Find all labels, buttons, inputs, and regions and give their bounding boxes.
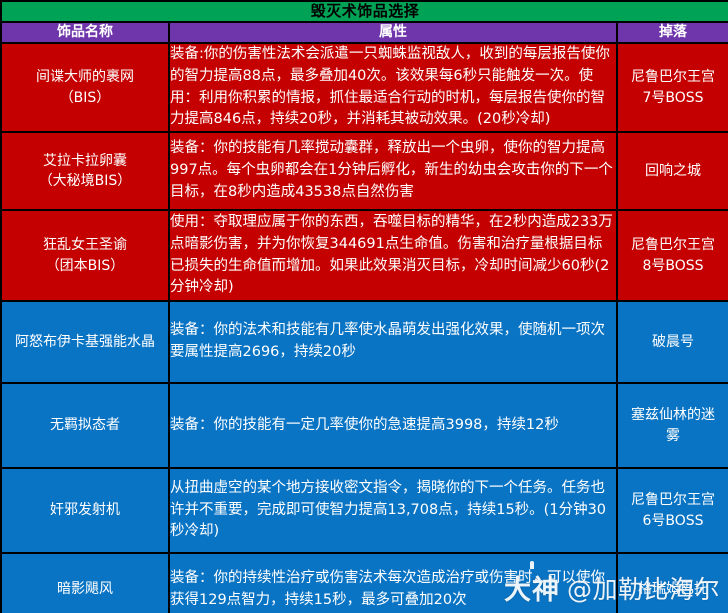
trinket-attribute-cell: 装备：你的技能有几率搅动囊群，释放出一个虫卵，使你的智力提高997点。每个虫卵都… — [169, 132, 617, 210]
trinket-attribute-cell: 装备：你的技能有一定几率使你的急速提高3998，持续12秒 — [169, 383, 617, 468]
drop-source-detail: 雾 — [618, 426, 728, 446]
page-title: 毁灭术饰品选择 — [1, 1, 728, 22]
drop-source: 回响之城 — [645, 163, 701, 179]
table-row: 奸邪发射机从扭曲虚空的某个地方接收密文指令，揭晓你的下一个任务。任务也许并不重要… — [1, 468, 728, 553]
trinket-attribute-cell: 装备：你的法术和技能有几率使水晶萌发出强化效果，使随机一项次要属性提高2696，… — [169, 301, 617, 383]
trinket-attribute-cell: 装备:你的伤害性法术会派遣一只蜘蛛监视敌人，收到的每层报告使你的智力提高88点，… — [169, 43, 617, 132]
drop-source: 塞兹仙林的迷 — [631, 407, 715, 423]
table-row: 阿怒布伊卡基强能水晶装备：你的法术和技能有几率使水晶萌发出强化效果，使随机一项次… — [1, 301, 728, 383]
trinket-name-tag: （大秘境BIS） — [2, 171, 168, 191]
trinket-name: 艾拉卡拉卵囊 — [43, 153, 127, 169]
trinket-drop-cell: 尼鲁巴尔王宫7号BOSS — [617, 43, 728, 132]
column-header-drop: 掉落 — [617, 22, 728, 43]
trinket-name-cell: 无羁拟态者 — [1, 383, 169, 468]
trinket-drop-cell: 尼鲁巴尔王宫6号BOSS — [617, 468, 728, 553]
trinket-name: 阿怒布伊卡基强能水晶 — [15, 334, 155, 350]
table-row: 暗影飓风装备：你的持续性治疗或伤害法术每次造成治疗或伤害时，可以使你获得129点… — [1, 553, 728, 613]
table-row: 艾拉卡拉卵囊（大秘境BIS）装备：你的技能有几率搅动囊群，释放出一个虫卵，使你的… — [1, 132, 728, 210]
trinket-name: 暗影飓风 — [57, 581, 113, 597]
drop-source-detail: 8号BOSS — [618, 256, 728, 276]
trinket-name-cell: 艾拉卡拉卵囊（大秘境BIS） — [1, 132, 169, 210]
trinket-name-cell: 间谍大师的裹网（BIS） — [1, 43, 169, 132]
title-row: 毁灭术饰品选择 — [1, 1, 728, 22]
header-row: 饰品名称 属性 掉落 — [1, 22, 728, 43]
trinket-drop-cell: 格瑞姆巴托 — [617, 553, 728, 613]
table-row: 无羁拟态者装备：你的技能有一定几率使你的急速提高3998，持续12秒塞兹仙林的迷… — [1, 383, 728, 468]
trinket-attribute-cell: 从扭曲虚空的某个地方接收密文指令，揭晓你的下一个任务。任务也许并不重要，完成即可… — [169, 468, 617, 553]
trinket-name: 无羁拟态者 — [50, 417, 120, 433]
trinket-name-tag: （BIS） — [2, 88, 168, 108]
trinket-drop-cell: 破晨号 — [617, 301, 728, 383]
drop-source: 尼鲁巴尔王宫 — [631, 69, 715, 85]
trinket-name: 狂乱女王圣谕 — [43, 237, 127, 253]
drop-source: 尼鲁巴尔王宫 — [631, 492, 715, 508]
trinket-name-cell: 狂乱女王圣谕（团本BIS） — [1, 210, 169, 301]
tier-list-container: 毁灭术饰品选择 饰品名称 属性 掉落 间谍大师的裹网（BIS）装备:你的伤害性法… — [0, 0, 728, 613]
trinket-selection-table: 毁灭术饰品选择 饰品名称 属性 掉落 间谍大师的裹网（BIS）装备:你的伤害性法… — [0, 0, 728, 613]
drop-source-detail: 6号BOSS — [618, 511, 728, 531]
trinket-drop-cell: 塞兹仙林的迷雾 — [617, 383, 728, 468]
drop-source: 格瑞姆巴托 — [638, 581, 708, 597]
column-header-name: 饰品名称 — [1, 22, 169, 43]
table-row: 狂乱女王圣谕（团本BIS）使用：夺取理应属于你的东西，吞噬目标的精华，在2秒内造… — [1, 210, 728, 301]
trinket-name: 奸邪发射机 — [50, 502, 120, 518]
trinket-drop-cell: 尼鲁巴尔王宫8号BOSS — [617, 210, 728, 301]
trinket-attribute-cell: 使用：夺取理应属于你的东西，吞噬目标的精华，在2秒内造成233万点暗影伤害，并为… — [169, 210, 617, 301]
trinket-name-cell: 奸邪发射机 — [1, 468, 169, 553]
trinket-drop-cell: 回响之城 — [617, 132, 728, 210]
drop-source: 尼鲁巴尔王宫 — [631, 237, 715, 253]
table-row: 间谍大师的裹网（BIS）装备:你的伤害性法术会派遣一只蜘蛛监视敌人，收到的每层报… — [1, 43, 728, 132]
drop-source: 破晨号 — [652, 334, 694, 350]
trinket-name-tag: （团本BIS） — [2, 256, 168, 276]
trinket-name: 间谍大师的裹网 — [36, 69, 134, 85]
trinket-name-cell: 阿怒布伊卡基强能水晶 — [1, 301, 169, 383]
drop-source-detail: 7号BOSS — [618, 88, 728, 108]
column-header-attribute: 属性 — [169, 22, 617, 43]
trinket-attribute-cell: 装备：你的持续性治疗或伤害法术每次造成治疗或伤害时，可以使你获得129点智力，持… — [169, 553, 617, 613]
trinket-name-cell: 暗影飓风 — [1, 553, 169, 613]
